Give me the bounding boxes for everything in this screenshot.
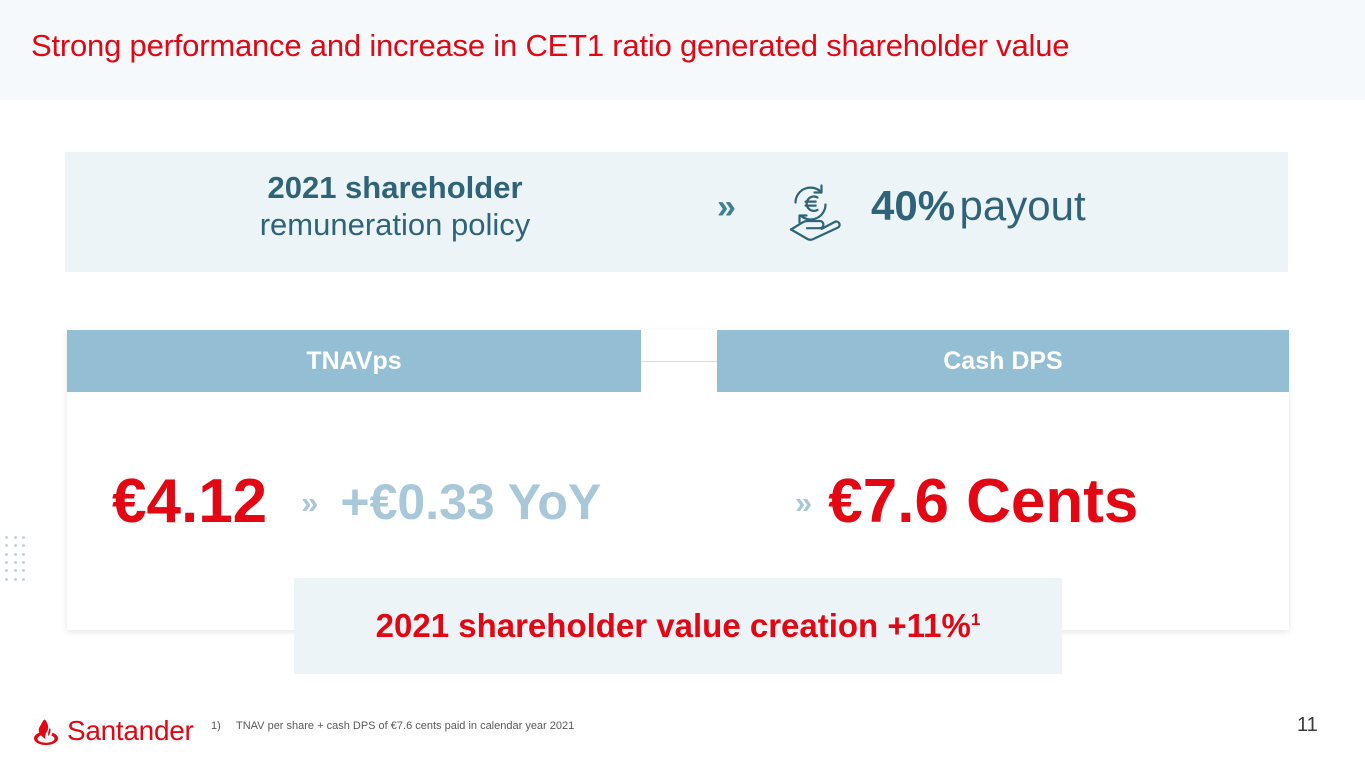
chevron-right-icon: » [717, 188, 731, 227]
dot [22, 578, 25, 581]
dot [5, 553, 8, 556]
dot [14, 561, 17, 564]
policy-label: 2021 shareholder remuneration policy [65, 170, 725, 243]
santander-wordmark: Santander [67, 715, 194, 747]
dot [5, 578, 8, 581]
footnote-text: TNAV per share + cash DPS of €7.6 cents … [236, 720, 574, 732]
dot [14, 544, 17, 547]
metric-row-tnavps: €4.12 » +€0.33 YoY [112, 462, 601, 542]
policy-line-2: remuneration policy [65, 207, 725, 244]
dot [14, 578, 17, 581]
footnote-number: 1) [211, 720, 221, 732]
page-title: Strong performance and increase in CET1 … [31, 28, 1069, 64]
dot [22, 544, 25, 547]
dot [5, 536, 8, 539]
dot [14, 536, 17, 539]
column-divider [640, 361, 718, 362]
value-creation-label: 2021 shareholder value creation +11% [376, 607, 971, 644]
metric-row-cash-dps: » €7.6 Cents [795, 462, 1138, 542]
dot [14, 553, 17, 556]
dot [5, 544, 8, 547]
remuneration-policy-band: 2021 shareholder remuneration policy » 4… [65, 152, 1288, 272]
column-header-cash-dps: Cash DPS [717, 330, 1289, 392]
dot [5, 561, 8, 564]
column-header-tnavps: TNAVps [67, 330, 641, 392]
dot [22, 536, 25, 539]
payout-label: payout [960, 182, 1086, 229]
payout-value: 40% [871, 182, 955, 229]
policy-line-1: 2021 shareholder [65, 170, 725, 207]
decorative-dots [5, 536, 31, 586]
value-creation-text: 2021 shareholder value creation +11%1 [376, 607, 981, 645]
chevron-right-icon-tnavps: » [301, 487, 314, 518]
tnavps-value: €4.12 [112, 471, 267, 533]
payout-text: 40% payout [871, 182, 1086, 230]
footnote-marker: 1 [971, 610, 980, 629]
dot [14, 569, 17, 572]
euro-hand-icon [777, 176, 857, 248]
santander-logo: Santander [31, 714, 194, 748]
dot [22, 553, 25, 556]
dot [5, 569, 8, 572]
dot [22, 561, 25, 564]
dot [22, 569, 25, 572]
tnavps-yoy-change: +€0.33 YoY [340, 477, 601, 527]
title-banner: Strong performance and increase in CET1 … [0, 0, 1365, 100]
chevron-right-icon-cash-dps: » [795, 487, 808, 518]
cash-dps-value: €7.6 Cents [828, 471, 1138, 533]
page-number: 11 [1297, 714, 1318, 737]
value-creation-ribbon: 2021 shareholder value creation +11%1 [294, 578, 1062, 674]
santander-flame-icon [31, 716, 61, 746]
